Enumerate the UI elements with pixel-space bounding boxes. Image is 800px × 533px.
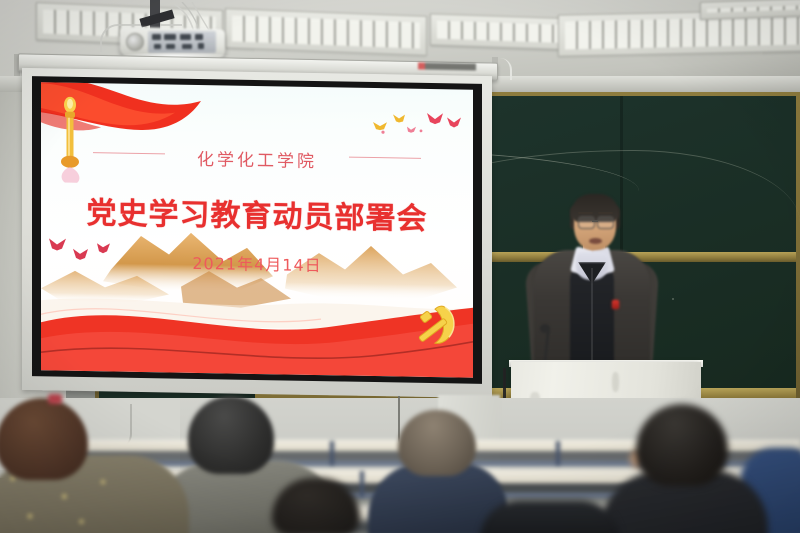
speaker-glasses [597, 216, 614, 229]
speaker-jacket-zipper [591, 268, 593, 364]
desk-divider [556, 441, 560, 465]
audience-head [636, 404, 728, 486]
ceiling-light-fixture [225, 8, 427, 56]
classroom-photo: 化学化工学院 党史学习教育动员部署会 2021年4月14日 [0, 0, 800, 533]
speaker-glasses [578, 216, 595, 229]
podium-smudge [612, 372, 619, 392]
projector-lens [126, 33, 144, 51]
slide-department-name: 化学化工学院 [41, 142, 473, 175]
audience-head [188, 396, 274, 474]
desk-divider [360, 471, 364, 497]
hair-clip [48, 394, 62, 404]
speaker-glasses-bridge [592, 220, 598, 222]
speaker-mouth [589, 238, 602, 244]
audience-head [398, 410, 476, 476]
cpc-hammer-sickle-emblem [405, 297, 467, 360]
projector-ports-panel [148, 31, 216, 53]
microphone-head [540, 324, 550, 333]
speaker-eyebrow [598, 212, 613, 214]
speaker-eyebrow [578, 212, 593, 214]
flying-doves-icon [335, 101, 465, 143]
roller-brand-label [418, 62, 476, 70]
ceiling-light-fixture [700, 0, 800, 20]
audience-member [480, 500, 620, 533]
slide-title: 党史学习教育动员部署会 [41, 187, 473, 239]
speaker-party-lapel-pin [612, 300, 619, 309]
blackboard-speck [672, 298, 674, 300]
presentation-slide: 化学化工学院 党史学习教育动员部署会 2021年4月14日 [41, 82, 473, 378]
desk-divider [330, 441, 334, 465]
gold-torch-icon [57, 97, 83, 183]
